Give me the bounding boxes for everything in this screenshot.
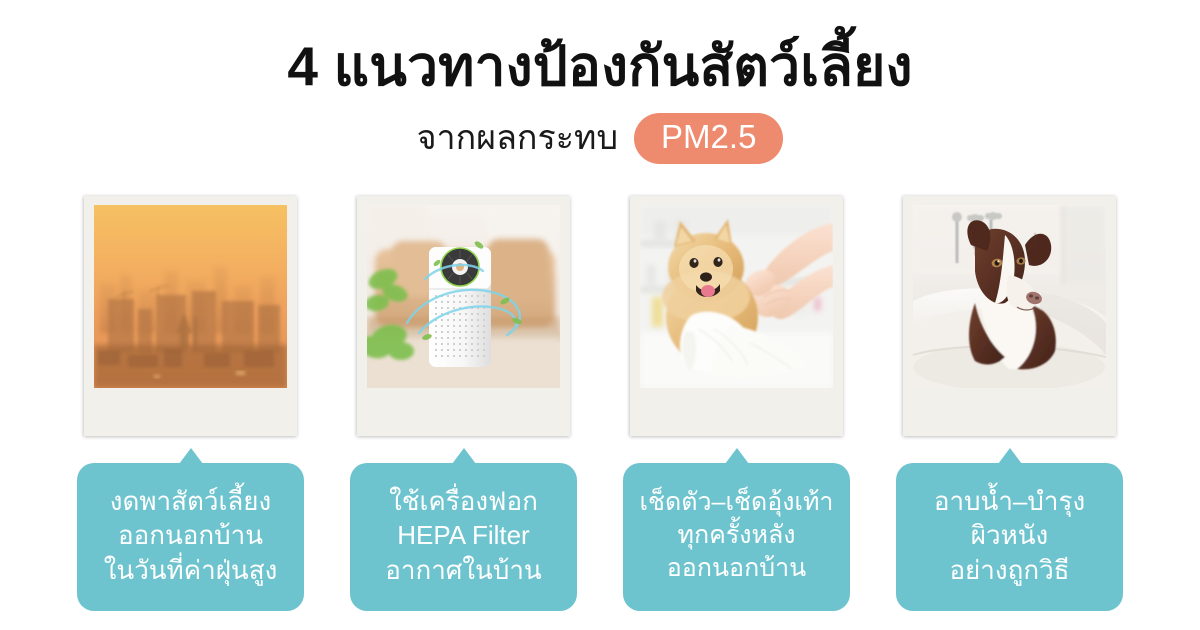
bubble-pointer-icon <box>179 448 203 464</box>
caption-line: อากาศในบ้าน <box>385 553 541 588</box>
caption-line: ทุกครั้งหลัง <box>678 519 796 552</box>
photo-card <box>623 196 850 436</box>
caption-line: อย่างถูกวิธี <box>949 553 1069 588</box>
pomeranian-towel-dry-photo <box>640 205 833 388</box>
caption-line: ในวันที่ค่าฝุ่นสูง <box>104 553 278 588</box>
polaroid-frame <box>903 196 1116 436</box>
bubble-pointer-icon <box>725 448 749 464</box>
caption-line: ผิวหนัง <box>971 518 1048 553</box>
photo-card <box>896 196 1123 436</box>
caption-bubble-wrap: อาบน้ำ–บำรุง ผิวหนัง อย่างถูกวิธี <box>896 448 1123 611</box>
air-purifier-photo <box>367 205 560 388</box>
bubble-pointer-icon <box>998 448 1022 464</box>
caption-line: HEPA Filter <box>397 518 529 553</box>
photo-card <box>77 196 304 436</box>
caption-row: งดพาสัตว์เลี้ยง ออกนอกบ้าน ในวันที่ค่าฝุ… <box>0 448 1200 611</box>
caption-line: เช็ดตัว–เช็ดอุ้งเท้า <box>640 486 834 519</box>
caption-line: ใช้เครื่องฟอก <box>389 484 538 519</box>
page-title: 4 แนวทางป้องกันสัตว์เลี้ยง <box>0 0 1200 99</box>
photo-card <box>350 196 577 436</box>
caption-bubble: ใช้เครื่องฟอก HEPA Filter อากาศในบ้าน <box>350 463 577 611</box>
caption-line: ออกนอกบ้าน <box>118 518 263 553</box>
bubble-pointer-icon <box>452 448 476 464</box>
caption-bubble-wrap: ใช้เครื่องฟอก HEPA Filter อากาศในบ้าน <box>350 448 577 611</box>
infographic-page: 4 แนวทางป้องกันสัตว์เลี้ยง จากผลกระทบ PM… <box>0 0 1200 630</box>
caption-bubble: งดพาสัตว์เลี้ยง ออกนอกบ้าน ในวันที่ค่าฝุ… <box>77 463 304 611</box>
subtitle-prefix: จากผลกระทบ <box>417 121 618 155</box>
caption-bubble-wrap: เช็ดตัว–เช็ดอุ้งเท้า ทุกครั้งหลัง ออกนอก… <box>623 448 850 611</box>
caption-bubble-wrap: งดพาสัตว์เลี้ยง ออกนอกบ้าน ในวันที่ค่าฝุ… <box>77 448 304 611</box>
subtitle-row: จากผลกระทบ PM2.5 <box>0 113 1200 164</box>
photo-card-row <box>0 196 1200 436</box>
pm25-badge: PM2.5 <box>634 113 783 164</box>
header: 4 แนวทางป้องกันสัตว์เลี้ยง จากผลกระทบ PM… <box>0 0 1200 164</box>
smoggy-city-skyline-photo <box>94 205 287 388</box>
polaroid-frame <box>357 196 570 436</box>
border-collie-bathtub-photo <box>913 205 1106 388</box>
polaroid-frame <box>84 196 297 436</box>
caption-line: อาบน้ำ–บำรุง <box>934 484 1085 519</box>
caption-bubble: เช็ดตัว–เช็ดอุ้งเท้า ทุกครั้งหลัง ออกนอก… <box>623 463 850 611</box>
caption-bubble: อาบน้ำ–บำรุง ผิวหนัง อย่างถูกวิธี <box>896 463 1123 611</box>
caption-line: ออกนอกบ้าน <box>667 552 806 585</box>
polaroid-frame <box>630 196 843 436</box>
caption-line: งดพาสัตว์เลี้ยง <box>110 484 271 519</box>
